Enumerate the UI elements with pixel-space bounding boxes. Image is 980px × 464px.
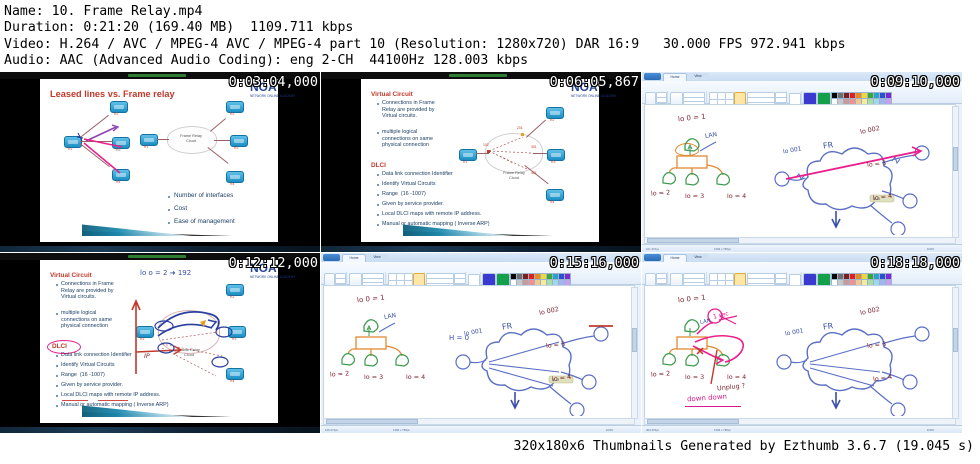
section-heading: Virtual Circuit	[371, 91, 413, 98]
router-label: R3	[551, 160, 555, 164]
ink-label: lo = 2	[651, 369, 671, 378]
tab-view[interactable]: View	[687, 254, 709, 261]
bullet-text: Number of interfaces	[174, 193, 233, 200]
status-zoom: 100%	[606, 428, 613, 432]
recording-bottom-bar	[0, 246, 320, 252]
media-video-line: Video: H.264 / AVC / MPEG-4 AVC / MPEG-4…	[4, 37, 980, 53]
status-image-size: 1366 x 768px	[393, 428, 410, 432]
bullet-marker	[168, 196, 170, 198]
timestamp-label: 0:06:05,867	[550, 75, 639, 90]
ink-label: lo = 4	[727, 192, 746, 200]
horizontal-scrollbar[interactable]	[644, 418, 956, 425]
scrollbar-thumb[interactable]	[953, 147, 958, 171]
scrollbar-thumb[interactable]	[326, 419, 418, 424]
router-icon	[226, 171, 244, 183]
underline-annotation	[98, 400, 128, 401]
ink-label: lo 0 = 1	[678, 294, 706, 305]
status-image-size: 1366 x 768px	[714, 247, 731, 251]
copy-button[interactable]	[656, 97, 667, 103]
ink-underline	[685, 406, 741, 407]
bullet-text: multiple logical connections on same phy…	[382, 129, 433, 149]
vertical-scrollbar[interactable]	[952, 106, 959, 238]
progress-bar	[128, 255, 186, 258]
horizontal-scrollbar[interactable]	[644, 237, 956, 244]
bullet-text: Identify Virtual Circuits	[61, 362, 115, 369]
progress-bar	[128, 74, 186, 77]
copy-button[interactable]	[335, 278, 346, 284]
slide-frame: Virtual Circuit Connections in Frame Rel…	[321, 72, 641, 252]
vertical-scrollbar[interactable]	[952, 287, 959, 419]
thumbnail-3[interactable]: Home View Clipboard Imag	[642, 72, 962, 252]
router-icon	[547, 149, 565, 161]
scrollbar-thumb[interactable]	[647, 419, 739, 424]
status-bar: 101.372px 1366 x 768px 100%	[642, 244, 962, 252]
paint-canvas[interactable]: lo 0 = 1	[644, 285, 956, 422]
ink-annotation-overlay	[128, 278, 248, 388]
ink-label: lo = 3	[685, 192, 704, 200]
bullet-text: Range (16 -1007)	[61, 372, 105, 379]
app-menu-button[interactable]	[644, 73, 661, 80]
fill-button[interactable]	[454, 278, 466, 284]
bullet-text: Data link connection Identifier	[382, 171, 453, 178]
section-heading: Virtual Circuit	[50, 272, 92, 279]
bullet-text: Manual or automatic mapping ( Inverse AR…	[382, 221, 490, 228]
bullet-marker	[56, 365, 58, 367]
bullet-text: Cost	[174, 206, 187, 213]
router-label: R4	[230, 182, 234, 186]
link-line	[210, 118, 226, 132]
media-audio-line: Audio: AAC (Advanced Audio Coding): eng …	[4, 53, 980, 69]
copy-button[interactable]	[656, 278, 667, 284]
svg-text:NETWORK ONLINE ACADEMY: NETWORK ONLINE ACADEMY	[250, 94, 296, 98]
bullet-marker	[56, 385, 58, 387]
tab-view[interactable]: View	[687, 73, 709, 80]
slide-canvas: Virtual Circuit Connections in Frame Rel…	[40, 260, 278, 423]
pillarbox-left	[0, 260, 40, 423]
underline-annotation	[62, 400, 88, 401]
dlci-label: 301	[531, 145, 537, 149]
timestamp-label: 0:03:04,000	[229, 75, 318, 90]
tab-home[interactable]: Home	[663, 73, 687, 81]
timestamp-label: 0:18:18,000	[871, 256, 960, 271]
bullet-marker	[168, 209, 170, 211]
scrollbar-thumb[interactable]	[953, 328, 958, 352]
timestamp-label: 0:15:16,000	[550, 256, 639, 271]
ink-label: lo = 2	[330, 369, 350, 378]
app-menu-button[interactable]	[644, 254, 661, 261]
thumbnail-6[interactable]: Home View Clipboard Imag	[642, 253, 962, 433]
ink-label: lo = 3	[685, 373, 704, 381]
svg-text:NETWORK ONLINE ACADEMY: NETWORK ONLINE ACADEMY	[571, 94, 617, 98]
media-duration-line: Duration: 0:21:20 (169.40 MB) 1109.711 k…	[4, 20, 980, 36]
dlci-badge: DLCI	[552, 378, 559, 382]
status-cursor-pos: 101.372px	[646, 247, 659, 251]
status-bar: 146.274px 1366 x 768px 100%	[321, 425, 641, 433]
bullet-marker	[56, 395, 58, 397]
status-cursor-pos: 404.379px	[646, 428, 659, 432]
link-line	[207, 147, 228, 164]
bullet-marker	[56, 355, 58, 357]
bullet-marker	[377, 194, 379, 196]
cloud-label: Frame Relay Cloud	[171, 134, 211, 143]
router-label: R4	[550, 200, 554, 204]
timestamp-label: 0:12:12,000	[229, 256, 318, 271]
dlci-label: 102	[483, 143, 489, 147]
bullet-text: Given by service provider.	[61, 382, 123, 389]
dlci-node	[487, 150, 490, 153]
slide-frame: Leased lines vs. Frame relay R2 R1 R3 R4	[0, 72, 320, 252]
pillarbox-right	[278, 260, 320, 423]
media-info-header: Name: 10. Frame Relay.mp4 Duration: 0:21…	[0, 0, 980, 72]
bullet-marker	[377, 103, 379, 105]
bullet-text: multiple logical connections on same phy…	[61, 310, 112, 330]
ink-note: lo o = 2 ➜ 192	[140, 269, 191, 277]
status-image-size: 1366 x 768px	[714, 428, 731, 432]
bullet-marker	[168, 222, 170, 224]
thumbnail-1[interactable]: Leased lines vs. Frame relay R2 R1 R3 R4	[0, 72, 320, 252]
tab-view[interactable]: View	[366, 254, 388, 261]
scrollbar-thumb[interactable]	[632, 328, 637, 352]
media-name-line: Name: 10. Frame Relay.mp4	[4, 4, 980, 20]
ink-label-ip: IP	[144, 352, 150, 360]
router-label: R3	[234, 146, 238, 150]
ink-label: lo = 4	[406, 373, 425, 381]
pillarbox-left	[321, 79, 361, 242]
dlci-label: 401	[531, 171, 537, 175]
bullet-text: Given by service provider.	[382, 201, 444, 208]
thumbnail-5[interactable]: Home View Clipboard Imag	[321, 253, 641, 433]
tab-home[interactable]: Home	[663, 254, 687, 262]
tab-home[interactable]: Home	[342, 254, 366, 262]
recording-bottom-bar	[321, 246, 641, 252]
link-line	[157, 139, 169, 140]
thumbnail-grid: Leased lines vs. Frame relay R2 R1 R3 R4	[0, 72, 980, 434]
dlci-node	[521, 133, 524, 136]
horizontal-scrollbar[interactable]	[323, 418, 635, 425]
paint-window: Home View Clipboard Imag	[642, 253, 962, 433]
bullet-marker	[377, 224, 379, 226]
bullet-text: Local DLCI maps with remote IP address.	[382, 211, 481, 218]
ink-label: lo 0 = 1	[678, 113, 706, 124]
bullet-text: Local DLCI maps with remote IP address.	[61, 392, 160, 399]
ink-label: lo = 3	[364, 373, 383, 381]
dlci-label: 201	[517, 126, 523, 130]
router-icon	[546, 107, 564, 119]
slide-title: Leased lines vs. Frame relay	[50, 89, 175, 99]
pillarbox-right	[599, 79, 641, 242]
bullet-marker	[377, 174, 379, 176]
bullet-marker	[377, 132, 379, 134]
router-label: R2	[550, 118, 554, 122]
bullet-text: Range (16 -1007)	[382, 191, 426, 198]
recording-bottom-bar	[0, 427, 320, 433]
bullet-marker	[377, 214, 379, 216]
router-label: R1	[463, 160, 467, 164]
ink-label: lo = 2	[651, 188, 671, 197]
bullet-text: Data link connection Identifier	[61, 352, 132, 359]
router-label: R1	[144, 145, 148, 149]
ink-label: lo = 4	[727, 373, 746, 381]
ezthumb-contact-sheet: Name: 10. Frame Relay.mp4 Duration: 0:21…	[0, 0, 980, 464]
slide-canvas: Leased lines vs. Frame relay R2 R1 R3 R4	[40, 79, 278, 242]
router-label: R4	[116, 180, 120, 184]
bullet-marker	[377, 204, 379, 206]
router-icon	[140, 134, 158, 146]
paint-window: Home View Clipboard Imag	[321, 253, 641, 433]
vertical-scrollbar[interactable]	[631, 287, 638, 419]
status-bar: 404.379px 1366 x 768px 100%	[642, 425, 962, 433]
thumbnail-2[interactable]: Virtual Circuit Connections in Frame Rel…	[321, 72, 641, 252]
section-heading: DLCI	[371, 162, 386, 169]
bullet-text: Identify Virtual Circuits	[382, 181, 436, 188]
scrollbar-thumb[interactable]	[647, 238, 739, 243]
bullet-text: Connections in Frame Relay are provided …	[61, 281, 114, 301]
progress-bar	[449, 74, 507, 77]
bullet-marker	[56, 375, 58, 377]
bullet-text: Ease of management	[174, 219, 235, 226]
bullet-text: Manual or automatic mapping ( Inverse AR…	[61, 402, 169, 409]
ink-annotation	[56, 109, 136, 179]
router-icon	[546, 189, 564, 201]
bullet-marker	[56, 405, 58, 407]
app-menu-button[interactable]	[323, 254, 340, 261]
sheet-footer: 320x180x6 Thumbnails Generated by Ezthum…	[0, 434, 980, 464]
pillarbox-right	[278, 79, 320, 242]
generator-credit: 320x180x6 Thumbnails Generated by Ezthum…	[514, 439, 975, 454]
router-icon	[459, 149, 477, 161]
paint-canvas[interactable]: lo 0 = 1 LAN	[644, 104, 956, 241]
timestamp-label: 0:09:10,000	[871, 75, 960, 90]
status-zoom: 100%	[927, 247, 934, 251]
thumbnail-4[interactable]: Virtual Circuit Connections in Frame Rel…	[0, 253, 320, 433]
bullet-marker	[377, 184, 379, 186]
slide-frame: Virtual Circuit Connections in Frame Rel…	[0, 253, 320, 433]
link-line	[214, 140, 230, 141]
status-cursor-pos: 146.274px	[325, 428, 338, 432]
status-zoom: 100%	[927, 428, 934, 432]
router-label: R2	[230, 112, 234, 116]
svg-text:NETWORK ONLINE ACADEMY: NETWORK ONLINE ACADEMY	[250, 275, 296, 279]
bullet-text: Connections in Frame Relay are provided …	[382, 100, 435, 120]
slide-canvas: Virtual Circuit Connections in Frame Rel…	[361, 79, 599, 242]
fill-button[interactable]	[775, 278, 787, 284]
bullet-marker	[56, 313, 58, 315]
router-icon	[226, 101, 244, 113]
router-icon	[230, 135, 248, 147]
fill-button[interactable]	[775, 97, 787, 103]
pillarbox-left	[0, 79, 40, 242]
paint-canvas[interactable]: lo 0 = 1 LAN lo	[323, 285, 635, 422]
bullet-marker	[56, 284, 58, 286]
paint-window: Home View Clipboard Imag	[642, 72, 962, 252]
virtual-circuit-dashes	[483, 129, 545, 175]
ink-label: lo 0 = 1	[357, 294, 385, 305]
dlci-badge: DLCI	[873, 197, 880, 201]
